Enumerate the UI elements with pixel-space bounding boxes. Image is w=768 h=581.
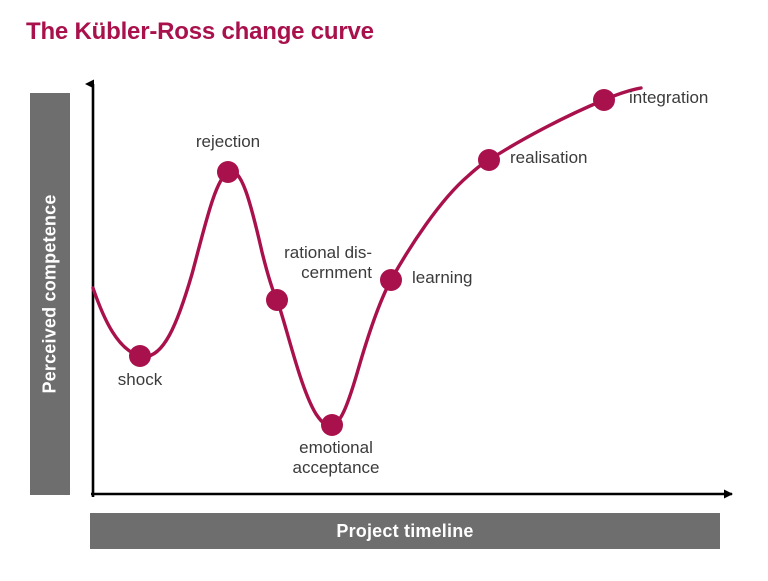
label-realisation: realisation <box>510 148 588 168</box>
data-point-integration[interactable] <box>593 89 615 111</box>
label-rational-discernment: rational dis-cernment <box>284 243 372 283</box>
label-emotional-acceptance: emotionalacceptance <box>293 438 380 478</box>
label-integration: integration <box>629 88 708 108</box>
data-point-rejection[interactable] <box>217 161 239 183</box>
label-shock: shock <box>118 370 162 390</box>
data-point-learning[interactable] <box>380 269 402 291</box>
label-learning: learning <box>412 268 473 288</box>
chart-canvas: The Kübler-Ross change curve Perceived c… <box>0 0 768 581</box>
data-point-emotional-acceptance[interactable] <box>321 414 343 436</box>
label-rejection: rejection <box>196 132 260 152</box>
label-rational-discernment-line1: rational dis- <box>284 243 372 263</box>
label-rational-discernment-line2: cernment <box>284 263 372 283</box>
data-point-realisation[interactable] <box>478 149 500 171</box>
data-point-shock[interactable] <box>129 345 151 367</box>
data-point-rational-discernment[interactable] <box>266 289 288 311</box>
label-emotional-acceptance-line2: acceptance <box>293 458 380 478</box>
label-emotional-acceptance-line1: emotional <box>293 438 380 458</box>
